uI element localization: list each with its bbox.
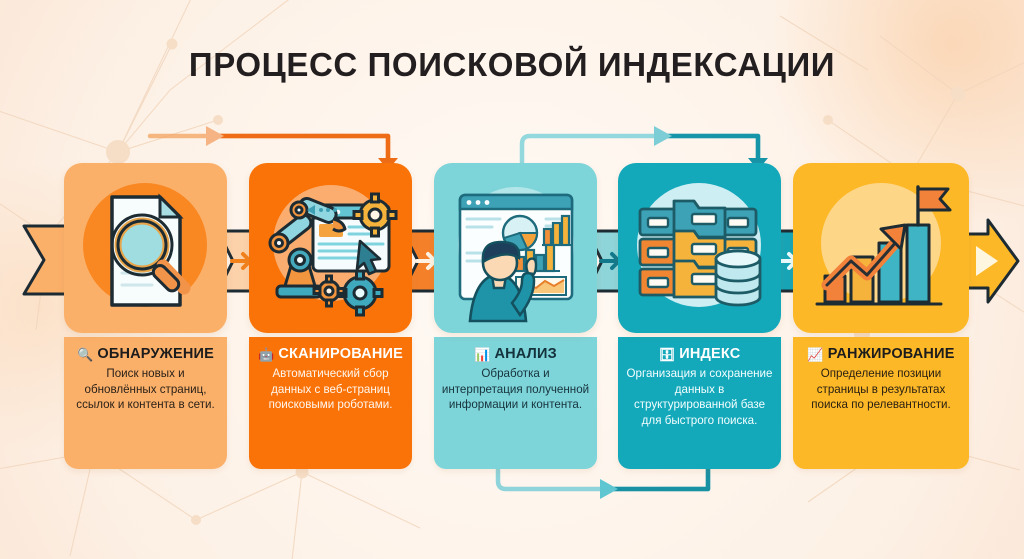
stage-label-crawling: 🤖 СКАНИРОВАНИЕ [256, 346, 405, 362]
stage-panel-crawling: 🤖 СКАНИРОВАНИЕ Автоматический сбор данны… [249, 337, 412, 469]
stage-description-discovery: Поиск новых и обновлённых страниц, ссыло… [71, 366, 220, 413]
stage-label-discovery: 🔍 ОБНАРУЖЕНИЕ [71, 346, 220, 362]
database-stack-icon: 🗄 [659, 348, 676, 361]
trend-up-icon: 📈 [807, 348, 823, 361]
stage-label-analysis: 📊 АНАЛИЗ [441, 346, 590, 362]
illustration-growth-chart-flag [793, 163, 969, 333]
stage-description-crawling: Автоматический сбор данных с веб-страниц… [256, 366, 405, 413]
stage-panel-discovery: 🔍 ОБНАРУЖЕНИЕ Поиск новых и обновлённых … [64, 337, 227, 469]
stage-description-ranking: Определение позиции страницы в результат… [800, 366, 962, 413]
stage-panel-index: 🗄 ИНДЕКС Организация и сохранение данных… [618, 337, 781, 469]
stage-label-ranking: 📈 РАНЖИРОВАНИЕ [800, 346, 962, 362]
stage-description-analysis: Обработка и интерпретация полученной инф… [441, 366, 590, 413]
infographic-canvas: ПРОЦЕСС ПОИСКОВОЙ ИНДЕКСАЦИИ [0, 0, 1024, 559]
stage-card-crawling[interactable]: 🤖 СКАНИРОВАНИЕ Автоматический сбор данны… [249, 163, 412, 469]
stage-card-ranking[interactable]: 📈 РАНЖИРОВАНИЕ Определение позиции стран… [793, 163, 969, 469]
stage-panel-analysis: 📊 АНАЛИЗ Обработка и интерпретация получ… [434, 337, 597, 469]
illustration-robot-browser [249, 163, 412, 333]
stage-card-analysis[interactable]: 📊 АНАЛИЗ Обработка и интерпретация получ… [434, 163, 597, 469]
stage-card-discovery[interactable]: 🔍 ОБНАРУЖЕНИЕ Поиск новых и обновлённых … [64, 163, 227, 469]
stage-panel-ranking: 📈 РАНЖИРОВАНИЕ Определение позиции стран… [793, 337, 969, 469]
illustration-person-dashboard [434, 163, 597, 333]
page-title: ПРОЦЕСС ПОИСКОВОЙ ИНДЕКСАЦИИ [0, 46, 1024, 84]
stage-card-index[interactable]: 🗄 ИНДЕКС Организация и сохранение данных… [618, 163, 781, 469]
bar-chart-icon: 📊 [474, 348, 490, 361]
illustration-cabinets-database [618, 163, 781, 333]
illustration-document-magnifier [64, 163, 227, 333]
stage-label-index: 🗄 ИНДЕКС [625, 346, 774, 362]
robot-icon: 🤖 [258, 348, 274, 361]
stage-description-index: Организация и сохранение данных в структ… [625, 366, 774, 429]
magnifier-icon: 🔍 [77, 348, 93, 361]
